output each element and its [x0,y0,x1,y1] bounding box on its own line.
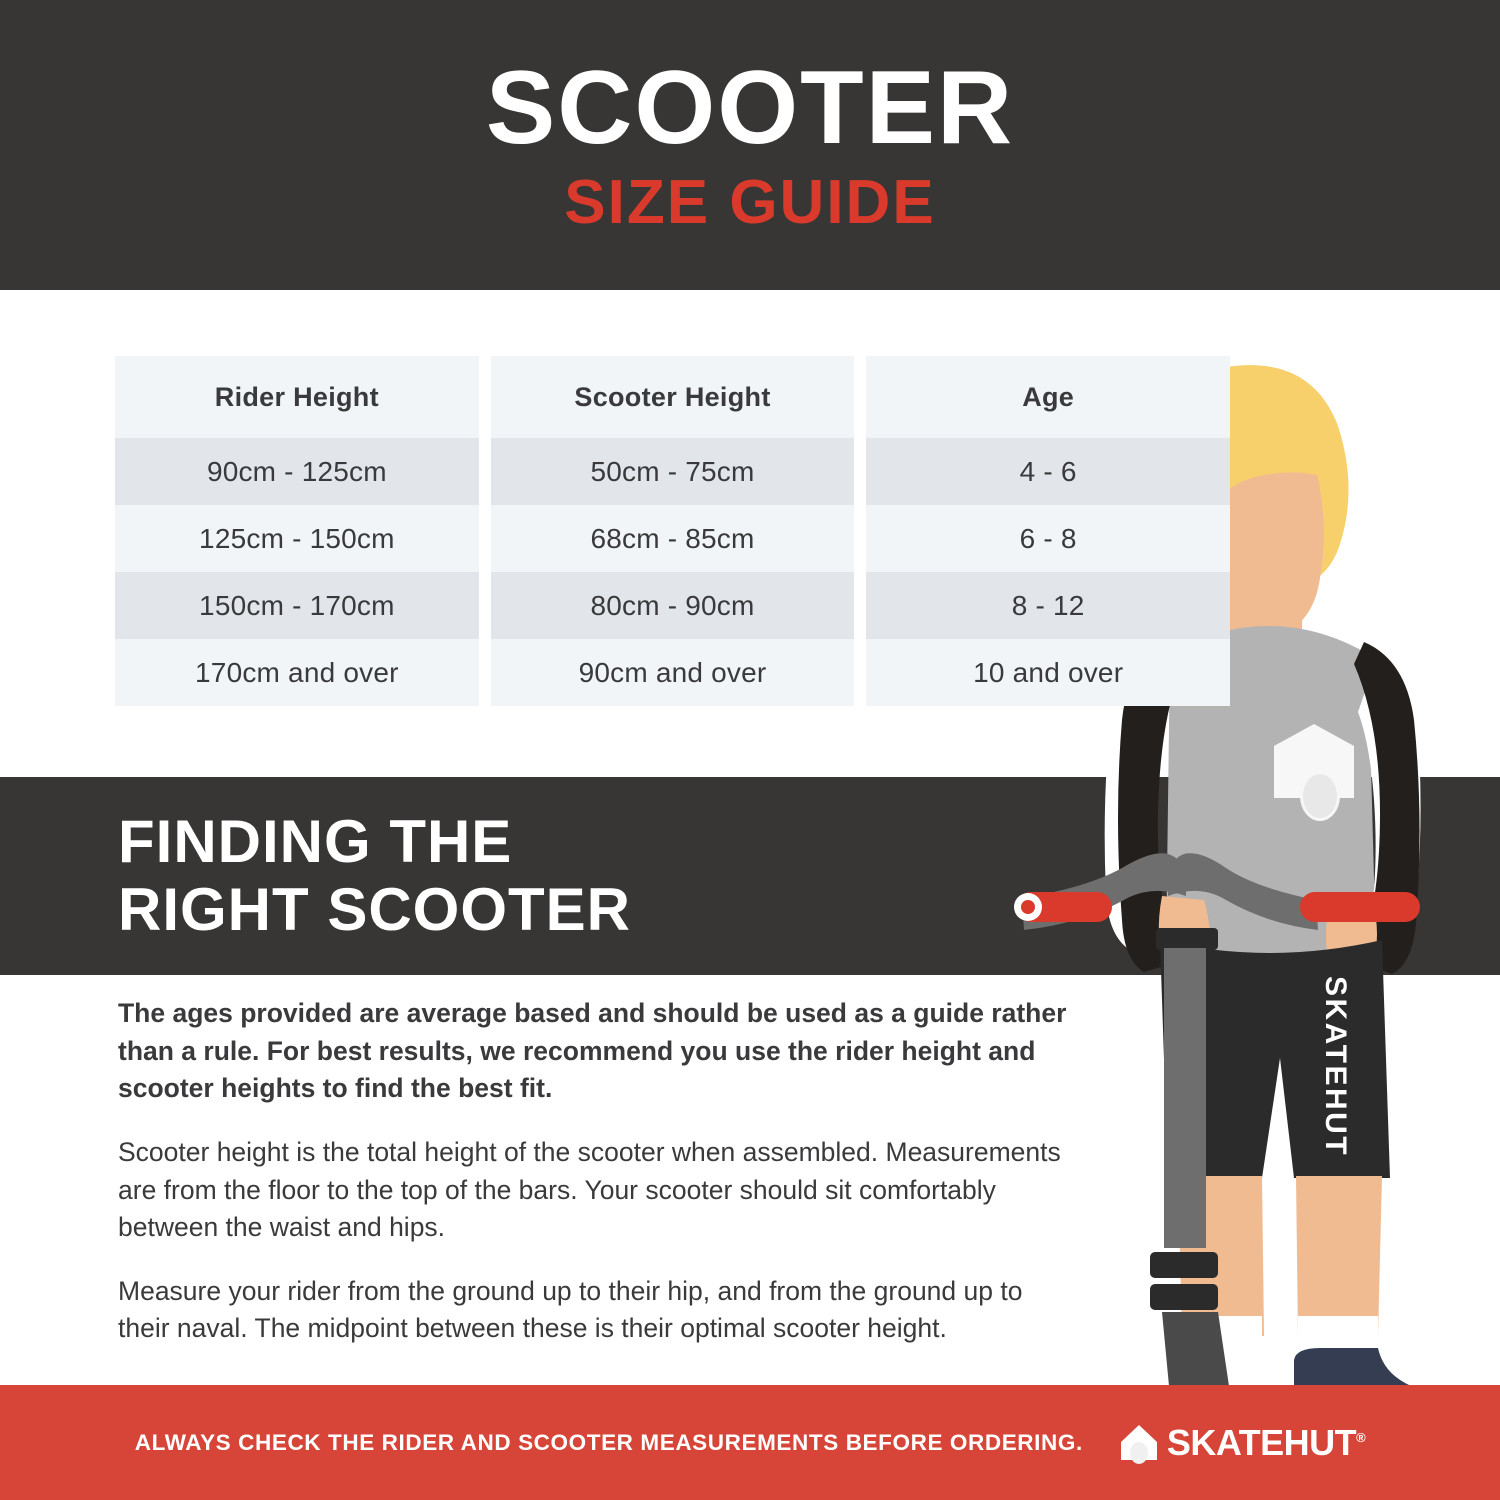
brand-logo: SKATEHUT® [1117,1422,1365,1464]
paragraph-intro: The ages provided are average based and … [118,995,1103,1108]
section-body: The ages provided are average based and … [118,995,1118,1374]
size-guide-table: Rider Height 90cm - 125cm 125cm - 150cm … [115,356,1230,708]
footer-notice: ALWAYS CHECK THE RIDER AND SCOOTER MEASU… [135,1430,1083,1456]
column-header: Scooter Height [491,356,855,438]
column-header: Age [866,356,1230,438]
shorts-brand-text: SKATEHUT [1319,976,1352,1157]
paragraph-measuring: Measure your rider from the ground up to… [118,1273,1053,1348]
section-heading-line-1: FINDING THE [118,808,631,876]
table-cell: 6 - 8 [866,505,1230,572]
table-column-age: Age 4 - 6 6 - 8 8 - 12 10 and over [866,356,1230,708]
table-cell: 125cm - 150cm [115,505,479,572]
brand-wordmark: SKATEHUT® [1167,1422,1365,1464]
table-cell: 90cm - 125cm [115,438,479,505]
column-header: Rider Height [115,356,479,438]
table-cell: 80cm - 90cm [491,572,855,639]
table-cell: 68cm - 85cm [491,505,855,572]
table-cell: 150cm - 170cm [115,572,479,639]
skatehut-hut-icon [1117,1422,1161,1464]
table-cell: 8 - 12 [866,572,1230,639]
table-column-scooter-height: Scooter Height 50cm - 75cm 68cm - 85cm 8… [491,356,855,708]
table-cell: 10 and over [866,639,1230,706]
table-cell: 50cm - 75cm [491,438,855,505]
table-cell: 4 - 6 [866,438,1230,505]
section-heading-line-2: RIGHT SCOOTER [118,876,631,944]
section-heading: FINDING THE RIGHT SCOOTER [118,808,631,944]
page-subtitle: SIZE GUIDE [564,172,935,234]
infographic-page: SCOOTER SIZE GUIDE Rider Height 90cm - 1… [0,0,1500,1500]
paragraph-scooter-height: Scooter height is the total height of th… [118,1134,1078,1247]
brand-name: SKATEHUT [1167,1422,1356,1463]
page-title: SCOOTER [486,56,1014,160]
footer-band: ALWAYS CHECK THE RIDER AND SCOOTER MEASU… [0,1385,1500,1500]
table-cell: 170cm and over [115,639,479,706]
registered-trademark-symbol: ® [1356,1430,1365,1445]
table-cell: 90cm and over [491,639,855,706]
header-band: SCOOTER SIZE GUIDE [0,0,1500,290]
table-column-rider-height: Rider Height 90cm - 125cm 125cm - 150cm … [115,356,479,708]
